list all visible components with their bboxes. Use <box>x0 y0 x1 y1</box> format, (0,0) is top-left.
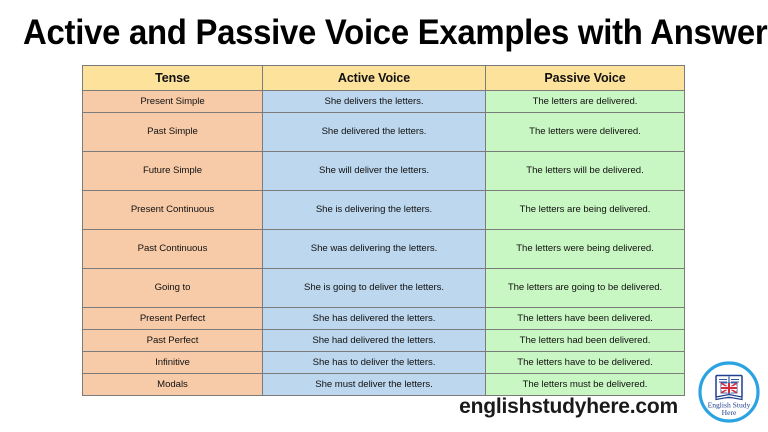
table-row: Past PerfectShe had delivered the letter… <box>83 330 685 352</box>
english-study-here-logo: English Study Here <box>697 360 761 424</box>
cell-active: She delivers the letters. <box>263 91 486 113</box>
cell-tense: Present Perfect <box>83 308 263 330</box>
cell-tense: Future Simple <box>83 152 263 191</box>
table-row: Present ContinuousShe is delivering the … <box>83 191 685 230</box>
union-jack-flag-icon <box>721 383 737 393</box>
page-title: Active and Passive Voice Examples with A… <box>23 13 745 53</box>
cell-tense: Present Simple <box>83 91 263 113</box>
cell-active: She is going to deliver the letters. <box>263 269 486 308</box>
cell-tense: Present Continuous <box>83 191 263 230</box>
cell-active: She has to deliver the letters. <box>263 352 486 374</box>
table-header-row: Tense Active Voice Passive Voice <box>83 66 685 91</box>
table-row: Past ContinuousShe was delivering the le… <box>83 230 685 269</box>
cell-active: She was delivering the letters. <box>263 230 486 269</box>
cell-tense: Past Perfect <box>83 330 263 352</box>
cell-passive: The letters were being delivered. <box>486 230 685 269</box>
cell-tense: Going to <box>83 269 263 308</box>
cell-active: She has delivered the letters. <box>263 308 486 330</box>
logo-badge-icon: English Study Here <box>697 360 761 424</box>
table-row: Past SimpleShe delivered the letters.The… <box>83 113 685 152</box>
table-row: ModalsShe must deliver the letters.The l… <box>83 374 685 396</box>
document-page: Active and Passive Voice Examples with A… <box>0 0 768 432</box>
logo-text-line2: Here <box>722 408 737 417</box>
cell-tense: Past Simple <box>83 113 263 152</box>
table-row: Present SimpleShe delivers the letters.T… <box>83 91 685 113</box>
cell-passive: The letters were delivered. <box>486 113 685 152</box>
active-passive-voice-table: Tense Active Voice Passive Voice Present… <box>82 65 685 396</box>
cell-active: She will deliver the letters. <box>263 152 486 191</box>
cell-tense: Modals <box>83 374 263 396</box>
table-body: Present SimpleShe delivers the letters.T… <box>83 91 685 396</box>
cell-passive: The letters have been delivered. <box>486 308 685 330</box>
table-row: Present PerfectShe has delivered the let… <box>83 308 685 330</box>
cell-passive: The letters had been delivered. <box>486 330 685 352</box>
voice-table-container: Tense Active Voice Passive Voice Present… <box>82 65 684 396</box>
column-header-passive: Passive Voice <box>486 66 685 91</box>
cell-tense: Past Continuous <box>83 230 263 269</box>
column-header-tense: Tense <box>83 66 263 91</box>
cell-passive: The letters will be delivered. <box>486 152 685 191</box>
cell-passive: The letters are going to be delivered. <box>486 269 685 308</box>
table-header: Tense Active Voice Passive Voice <box>83 66 685 91</box>
cell-active: She had delivered the letters. <box>263 330 486 352</box>
cell-active: She delivered the letters. <box>263 113 486 152</box>
site-url: englishstudyhere.com <box>0 394 678 420</box>
cell-passive: The letters are being delivered. <box>486 191 685 230</box>
cell-passive: The letters are delivered. <box>486 91 685 113</box>
cell-passive: The letters must be delivered. <box>486 374 685 396</box>
table-row: Going toShe is going to deliver the lett… <box>83 269 685 308</box>
column-header-active: Active Voice <box>263 66 486 91</box>
table-row: InfinitiveShe has to deliver the letters… <box>83 352 685 374</box>
cell-passive: The letters have to be delivered. <box>486 352 685 374</box>
cell-tense: Infinitive <box>83 352 263 374</box>
cell-active: She must deliver the letters. <box>263 374 486 396</box>
cell-active: She is delivering the letters. <box>263 191 486 230</box>
table-row: Future SimpleShe will deliver the letter… <box>83 152 685 191</box>
